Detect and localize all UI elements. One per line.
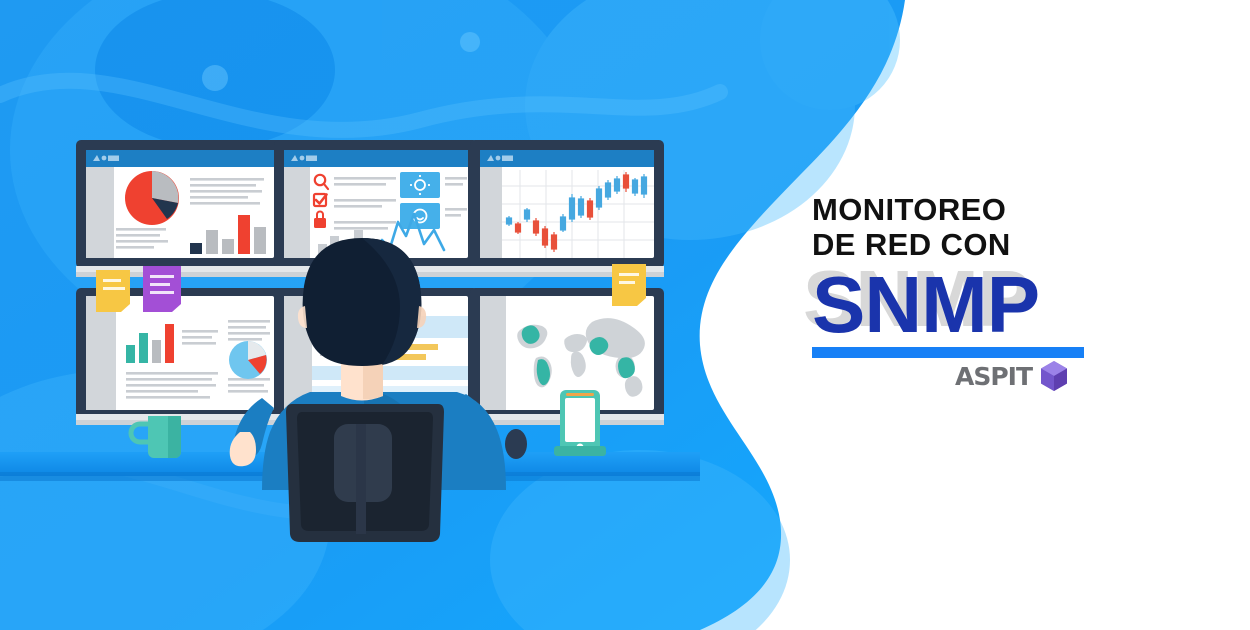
note-purple (143, 266, 181, 312)
headline-line-1: MONITOREO (812, 192, 1112, 227)
aspit-logo-text: ASPIT (955, 362, 1032, 391)
monitor-top-right (470, 140, 664, 277)
aspit-logo: ASPIT (955, 360, 1069, 392)
pie-chart (125, 171, 179, 225)
computer-mouse (505, 429, 527, 459)
tile-smiley (400, 203, 440, 229)
accent-bar (812, 347, 1084, 358)
snmp-wordmark: SNMP SNMP (812, 264, 1112, 346)
monitor-top-left (76, 140, 284, 277)
headline-block: MONITOREO DE RED CON SNMP SNMP (812, 192, 1112, 346)
smartphone-on-dock (554, 390, 606, 456)
coffee-mug (131, 416, 181, 458)
note-yellow-right (612, 264, 646, 306)
aspit-cube-icon (1039, 360, 1069, 392)
pie-chart (229, 341, 267, 379)
note-yellow-left (96, 270, 130, 312)
hero-banner: MONITOREO DE RED CON SNMP SNMP ASPIT (0, 0, 1250, 630)
snmp-wordmark-main: SNMP (812, 264, 1039, 346)
tile-settings (400, 172, 440, 198)
